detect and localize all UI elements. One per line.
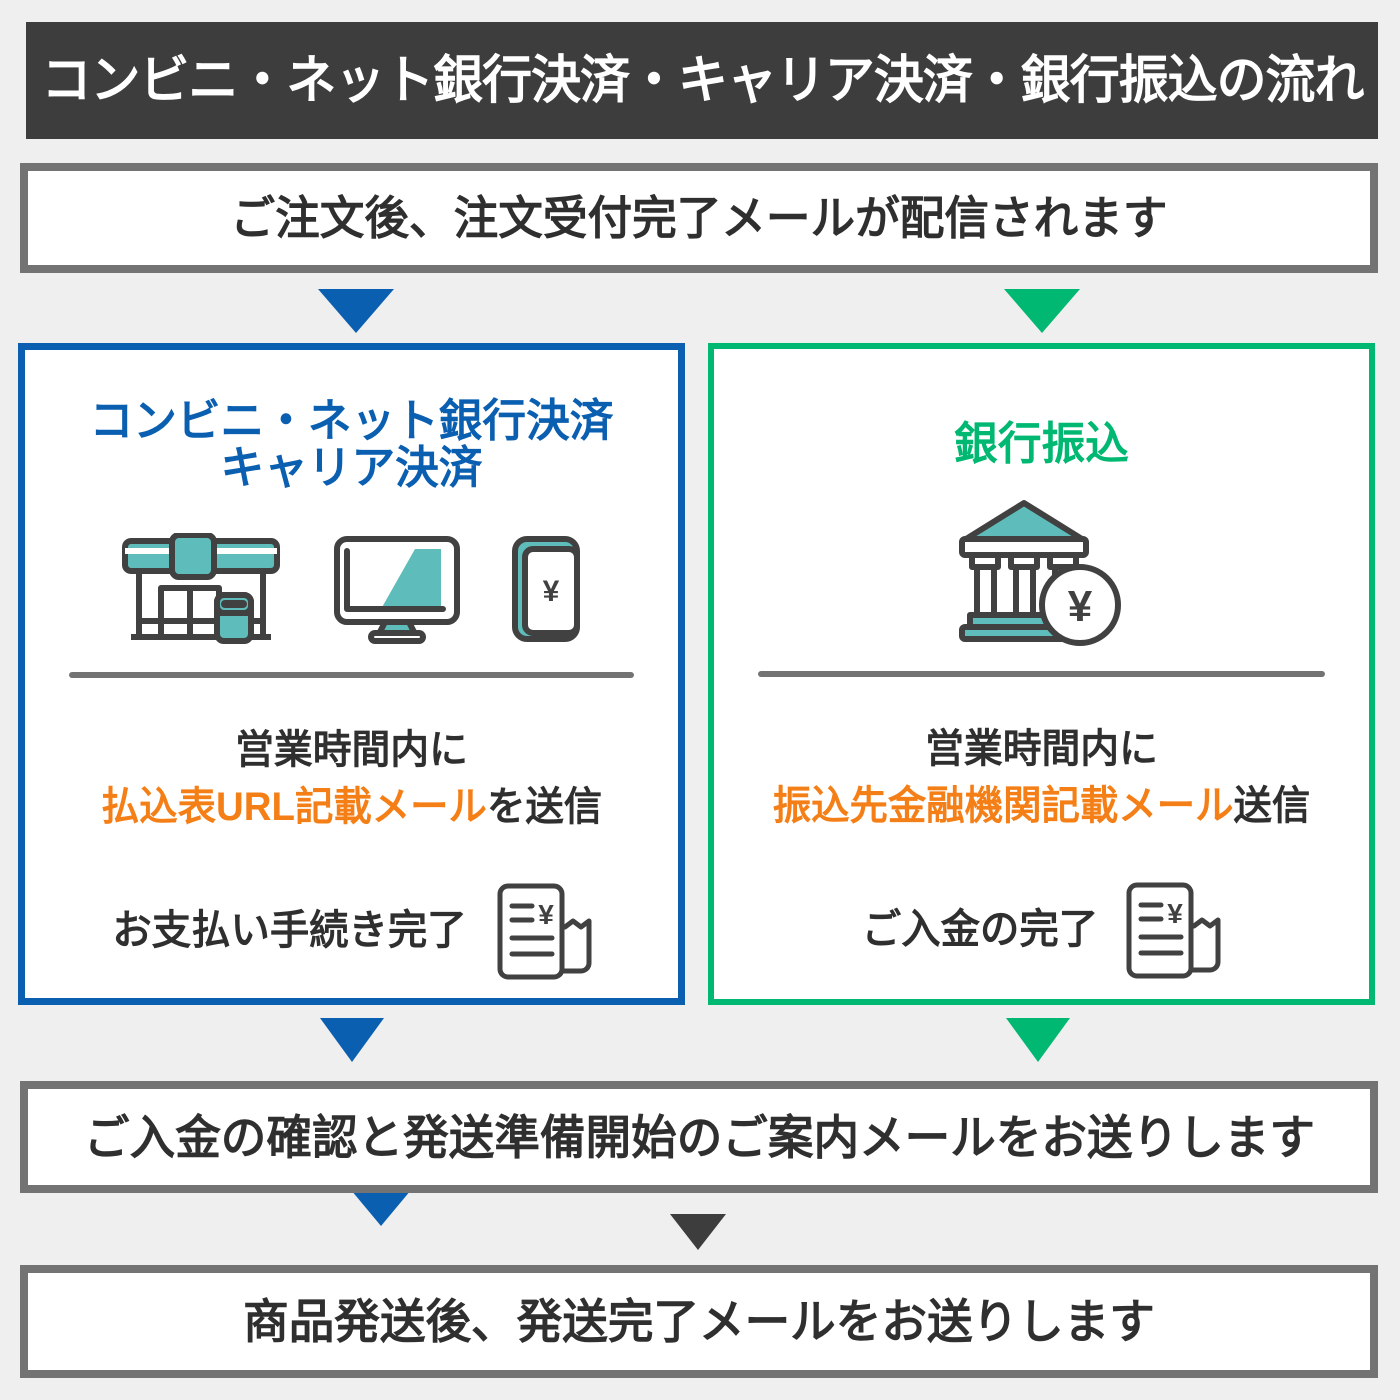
panel-convenience-title: コンビニ・ネット銀行決済 キャリア決済	[35, 398, 668, 492]
svg-text:¥: ¥	[1167, 898, 1183, 929]
down-arrow-dark-to-shipped-icon	[670, 1214, 726, 1250]
diagram-title: コンビニ・ネット銀行決済・キャリア決済・銀行振込の流れ	[41, 55, 1363, 107]
svg-text:¥: ¥	[1067, 582, 1092, 631]
step-order-confirmation-label: ご注文後、注文受付完了メールが配信されます	[230, 195, 1167, 241]
step-shipped-label: 商品発送後、発送完了メールをお送りします	[243, 1298, 1155, 1345]
down-arrow-blue-out-icon	[320, 1018, 384, 1062]
panel-convenience-final-row: お支払い手続き完了 ¥	[25, 880, 678, 980]
panel-bank-highlight: 振込先金融機関記載メール	[773, 784, 1234, 828]
bank-building-yen-icon: ¥	[952, 497, 1132, 647]
panel-convenience-step-line1: 営業時間内に	[35, 730, 668, 770]
panel-bank-suffix: 送信	[1234, 784, 1311, 828]
panel-convenience-payment: コンビニ・ネット銀行決済 キャリア決済	[18, 343, 685, 1005]
invoice-yen-icon: ¥	[488, 880, 598, 980]
desktop-monitor-icon	[331, 533, 463, 645]
panel-bank-transfer: 銀行振込	[708, 343, 1375, 1005]
panel-bank-step-line1: 営業時間内に	[724, 729, 1359, 769]
smartphone-yen-icon: ¥	[509, 533, 587, 645]
panel-convenience-suffix: を送信	[487, 785, 602, 829]
panel-convenience-step-line2: 払込表URL記載メールを送信	[38, 787, 665, 827]
panel-bank-final-label: ご入金の完了	[861, 909, 1097, 950]
convenience-store-icon	[117, 533, 285, 645]
panel-bank-step-line2: 振込先金融機関記載メール送信	[727, 786, 1356, 826]
step-shipped-box: 商品発送後、発送完了メールをお送りします	[20, 1265, 1378, 1378]
flow-diagram: コンビニ・ネット銀行決済・キャリア決済・銀行振込の流れ ご注文後、注文受付完了メ…	[0, 0, 1400, 1400]
panel-bank-title: 銀行振込	[724, 421, 1359, 468]
panel-convenience-final-label: お支払い手続き完了	[112, 910, 466, 951]
svg-text:¥: ¥	[538, 899, 554, 930]
panel-convenience-icon-row: ¥	[25, 525, 678, 645]
panel-bank-divider	[758, 671, 1325, 677]
panel-convenience-divider	[69, 672, 634, 678]
step-order-confirmation-box: ご注文後、注文受付完了メールが配信されます	[20, 163, 1378, 273]
down-arrow-blue-inner-icon	[351, 1190, 411, 1226]
down-arrow-green-out-icon	[1006, 1018, 1070, 1062]
step-payment-confirmed-label: ご入金の確認と発送準備開始のご案内メールをお送りします	[84, 1114, 1315, 1161]
invoice-yen-icon: ¥	[1117, 879, 1227, 979]
step-payment-confirmed-box: ご入金の確認と発送準備開始のご案内メールをお送りします	[20, 1081, 1378, 1193]
diagram-title-bar: コンビニ・ネット銀行決済・キャリア決済・銀行振込の流れ	[26, 22, 1378, 139]
svg-text:¥: ¥	[542, 575, 559, 608]
panel-bank-final-row: ご入金の完了 ¥	[714, 879, 1369, 979]
down-arrow-blue-to-convenience-icon	[318, 289, 394, 333]
down-arrow-green-to-bank-icon	[1004, 289, 1080, 333]
panel-bank-icon-row: ¥	[714, 497, 1369, 647]
panel-convenience-highlight: 払込表URL記載メール	[101, 785, 487, 829]
